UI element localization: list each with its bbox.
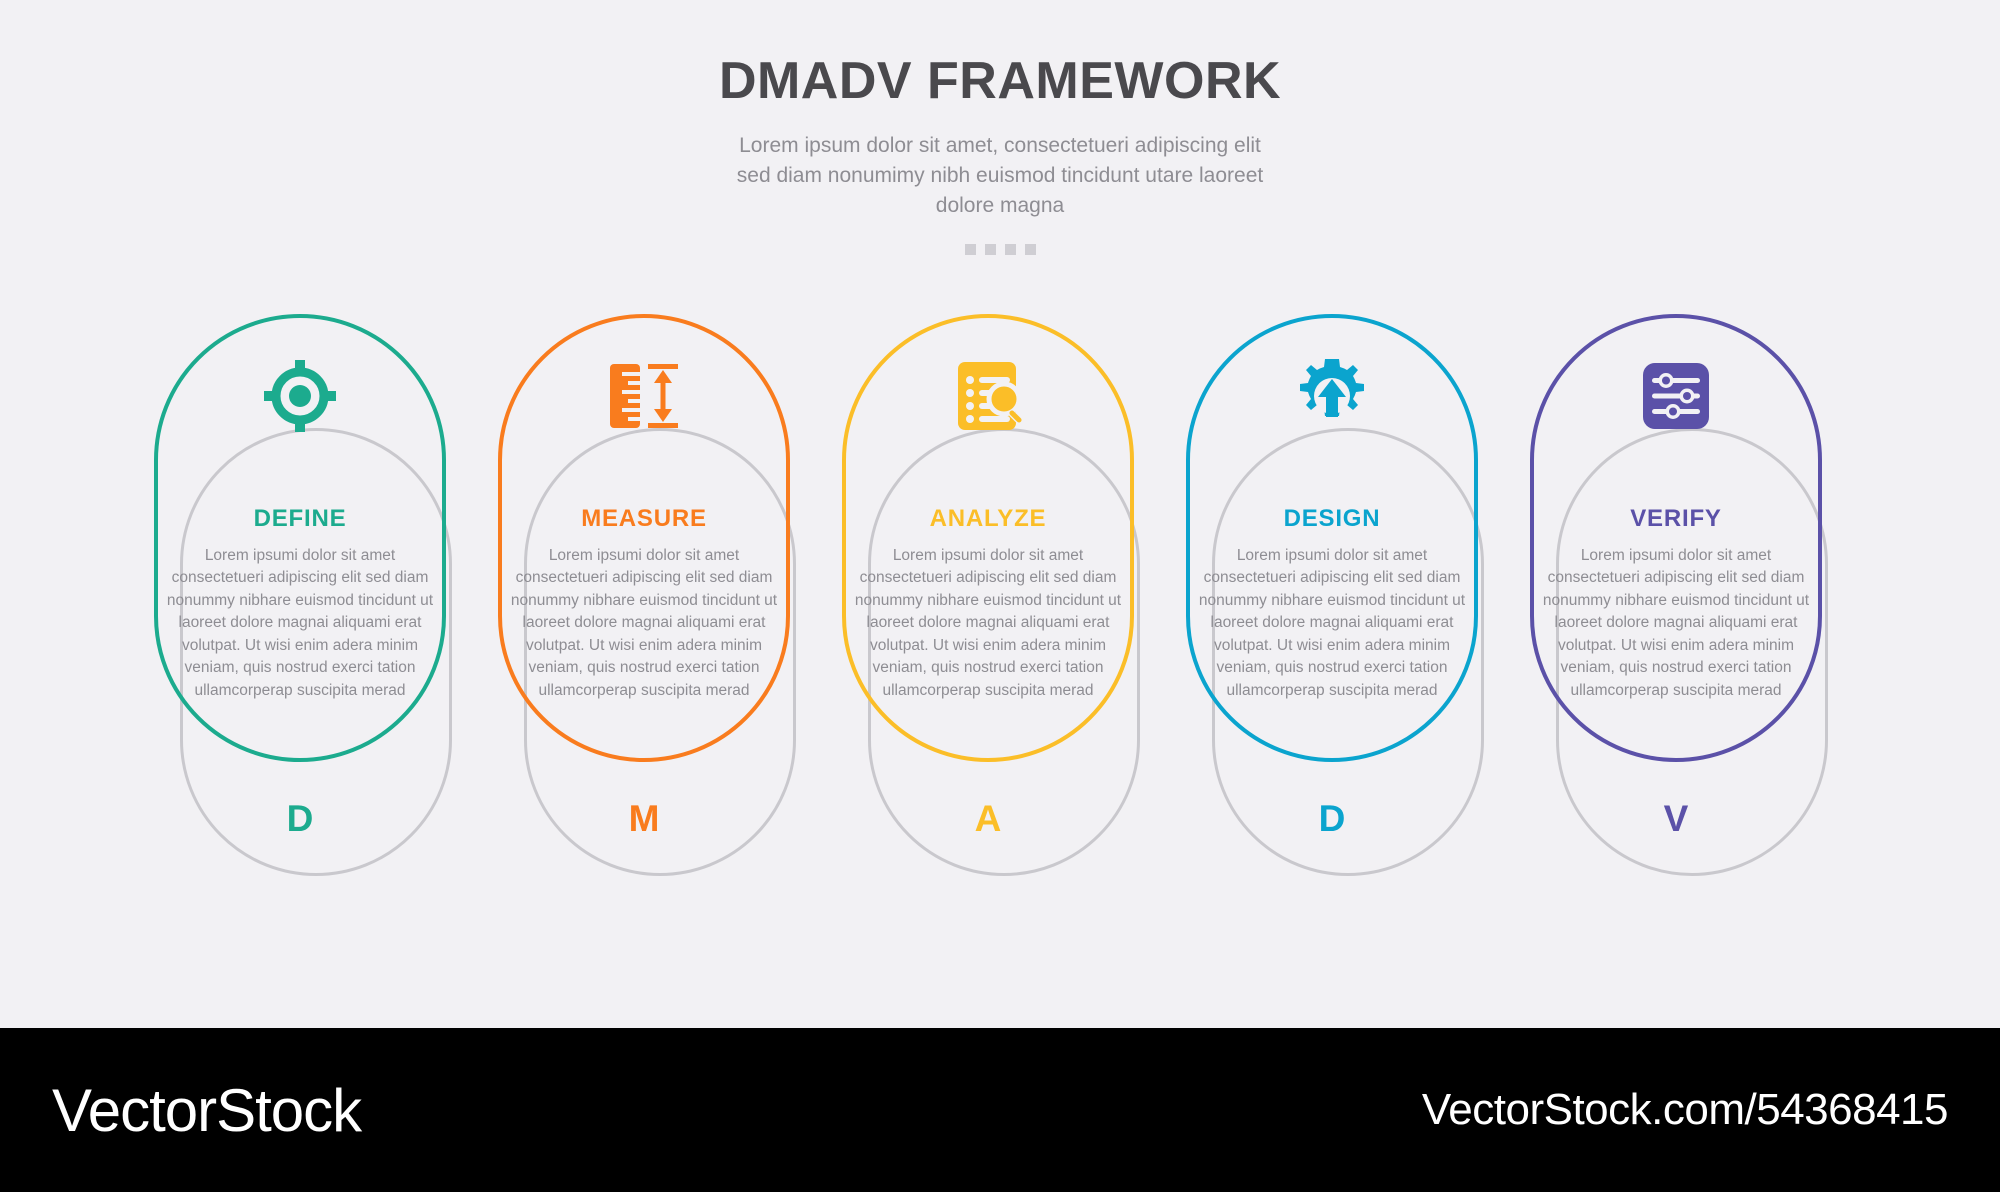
vectorstock-url: VectorStock.com/54368415: [1422, 1085, 1948, 1135]
vectorstock-logo: VectorStock: [52, 1076, 361, 1145]
stage-label: MEASURE: [510, 505, 778, 533]
stage-label: DEFINE: [166, 505, 434, 533]
separator-dot: [1005, 244, 1016, 255]
framework-stage-cards: DEFINELorem ipsumi dolor sit amet consec…: [0, 300, 2000, 900]
stage-card-verify[interactable]: VERIFYLorem ipsumi dolor sit amet consec…: [1530, 300, 1846, 900]
sliders-settings-icon: [1530, 348, 1822, 444]
stage-card-define[interactable]: DEFINELorem ipsumi dolor sit amet consec…: [154, 300, 470, 900]
separator-dot: [985, 244, 996, 255]
stage-text-block: VERIFYLorem ipsumi dolor sit amet consec…: [1542, 505, 1810, 702]
stage-label: ANALYZE: [854, 505, 1122, 533]
stage-text-block: ANALYZELorem ipsumi dolor sit amet conse…: [854, 505, 1122, 702]
stage-label: VERIFY: [1542, 505, 1810, 533]
stage-text-block: DESIGNLorem ipsumi dolor sit amet consec…: [1198, 505, 1466, 702]
stage-description: Lorem ipsumi dolor sit amet consectetuer…: [1542, 545, 1810, 702]
stage-description: Lorem ipsumi dolor sit amet consectetuer…: [510, 545, 778, 702]
watermark-footer: VectorStock VectorStock.com/54368415: [0, 1028, 2000, 1192]
ruler-measure-icon: [498, 348, 790, 444]
separator-dot: [1025, 244, 1036, 255]
stage-letter: M: [498, 798, 790, 840]
stage-text-block: MEASURELorem ipsumi dolor sit amet conse…: [510, 505, 778, 702]
stage-description: Lorem ipsumi dolor sit amet consectetuer…: [1198, 545, 1466, 702]
stage-letter: V: [1530, 798, 1822, 840]
page-header: DMADV FRAMEWORK Lorem ipsum dolor sit am…: [0, 0, 2000, 255]
stage-letter: D: [154, 798, 446, 840]
stage-card-analyze[interactable]: ANALYZELorem ipsumi dolor sit amet conse…: [842, 300, 1158, 900]
separator-dots: [0, 244, 2000, 255]
page-subtitle: Lorem ipsum dolor sit amet, consectetuer…: [720, 131, 1280, 222]
stage-label: DESIGN: [1198, 505, 1466, 533]
stage-card-design[interactable]: DESIGNLorem ipsumi dolor sit amet consec…: [1186, 300, 1502, 900]
separator-dot: [965, 244, 976, 255]
page-title: DMADV FRAMEWORK: [0, 54, 2000, 109]
stage-card-measure[interactable]: MEASURELorem ipsumi dolor sit amet conse…: [498, 300, 814, 900]
stage-description: Lorem ipsumi dolor sit amet consectetuer…: [166, 545, 434, 702]
document-magnifier-icon: [842, 348, 1134, 444]
crosshair-target-icon: [154, 348, 446, 444]
stage-letter: A: [842, 798, 1134, 840]
stage-letter: D: [1186, 798, 1478, 840]
stage-description: Lorem ipsumi dolor sit amet consectetuer…: [854, 545, 1122, 702]
stage-text-block: DEFINELorem ipsumi dolor sit amet consec…: [166, 505, 434, 702]
gear-arrow-up-icon: [1186, 348, 1478, 444]
